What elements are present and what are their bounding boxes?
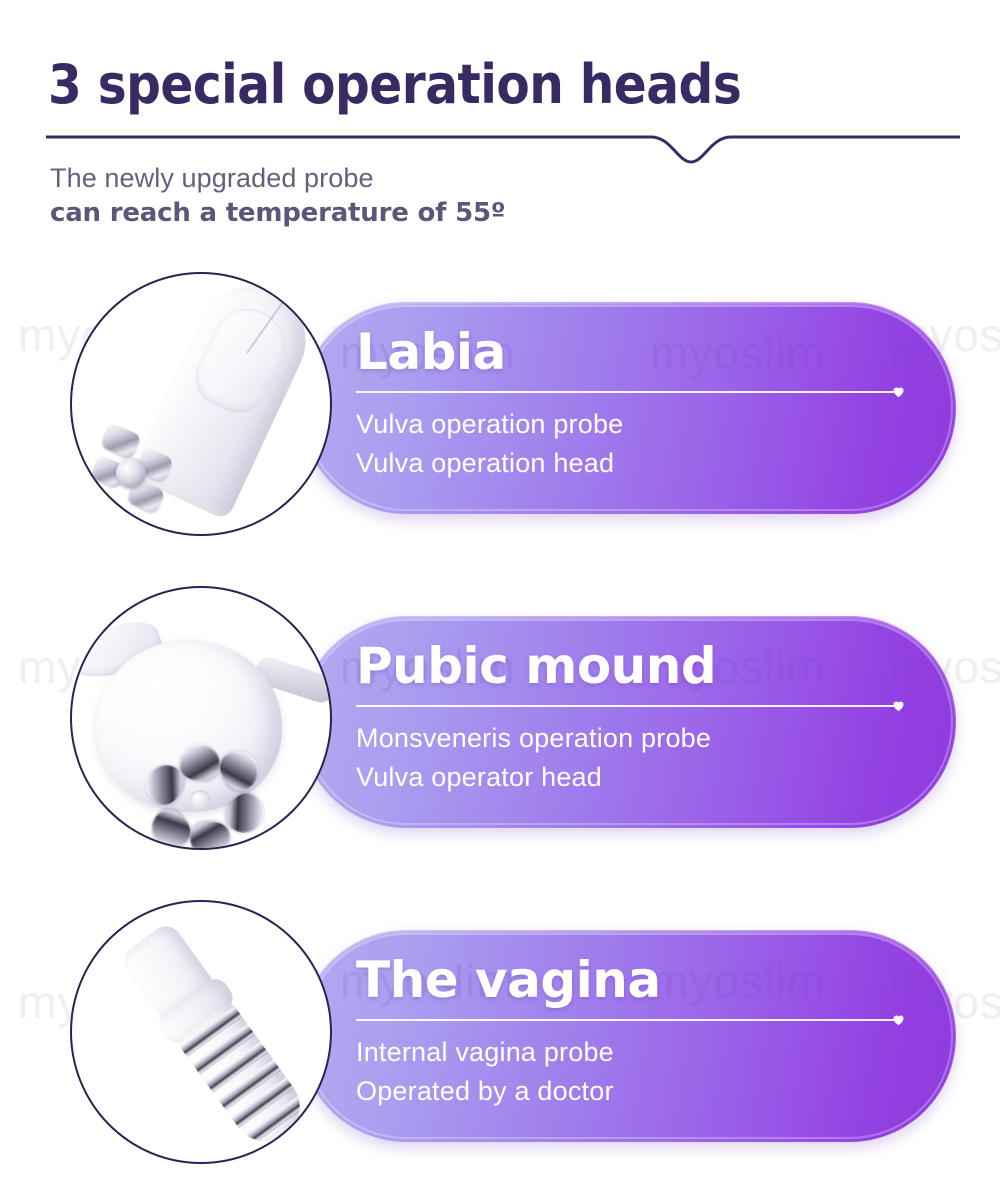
electrode-petal xyxy=(190,822,230,848)
page-title: 3 special operation heads xyxy=(48,54,741,116)
card-subtitle-1: Monsveneris operation probe xyxy=(356,719,916,758)
center-electrode xyxy=(116,458,146,488)
subtitle-line-2: can reach a temperature of 55º xyxy=(50,196,505,230)
card-subtitle-1: Internal vagina probe xyxy=(356,1033,916,1072)
electrode-petal xyxy=(180,744,220,780)
feature-card-vagina[interactable]: myoslim myoslim myoslim xyxy=(0,900,1000,1170)
electrode-petal xyxy=(143,803,197,848)
product-image-circle xyxy=(70,272,332,536)
rule-line xyxy=(356,705,896,707)
product-image-circle xyxy=(70,900,332,1164)
promo-page: myoslim myoslim myoslim myoslim myoslim … xyxy=(0,0,1000,1198)
card-subtitle-2: Vulva operation head xyxy=(356,444,916,483)
rule-line xyxy=(356,391,896,393)
card-subtitle-2: Vulva operator head xyxy=(356,758,916,797)
card-text-block: The vagina Internal vagina probe Operate… xyxy=(356,952,916,1111)
rule-line xyxy=(356,1019,896,1021)
product-image-circle xyxy=(70,586,332,850)
probe-dome xyxy=(96,640,282,812)
card-rule xyxy=(356,386,904,398)
probe-shaft xyxy=(175,1000,313,1155)
electrode-ring xyxy=(241,1093,310,1147)
card-rule xyxy=(356,700,904,712)
card-text-block: Labia Vulva operation probe Vulva operat… xyxy=(356,324,916,483)
center-sensor xyxy=(190,790,210,810)
probe-body xyxy=(129,274,323,521)
feature-card-pubic-mound[interactable]: myoslim myoslim myoslim Pubic mou xyxy=(0,586,1000,856)
electrode xyxy=(100,422,142,460)
pubic-mound-probe-icon xyxy=(72,588,330,848)
probe-assembly xyxy=(72,902,330,1162)
heart-icon xyxy=(891,384,906,399)
probe-cap xyxy=(186,297,297,423)
card-title: Pubic mound xyxy=(356,638,916,694)
heart-icon xyxy=(891,698,906,713)
vaginal-probe-icon xyxy=(72,902,330,1162)
labia-probe-icon xyxy=(72,274,330,534)
electrode-petal xyxy=(214,744,266,797)
card-subtitle-1: Vulva operation probe xyxy=(356,405,916,444)
heart-icon xyxy=(891,1012,906,1027)
card-text-block: Pubic mound Monsveneris operation probe … xyxy=(356,638,916,797)
card-title: Labia xyxy=(356,324,916,380)
card-rule xyxy=(356,1014,904,1026)
card-title: The vagina xyxy=(356,952,916,1008)
subtitle-line-1: The newly upgraded probe xyxy=(50,161,374,195)
card-subtitle-2: Operated by a doctor xyxy=(356,1072,916,1111)
feature-card-labia[interactable]: myoslim myoslim myoslim Labia xyxy=(0,272,1000,542)
